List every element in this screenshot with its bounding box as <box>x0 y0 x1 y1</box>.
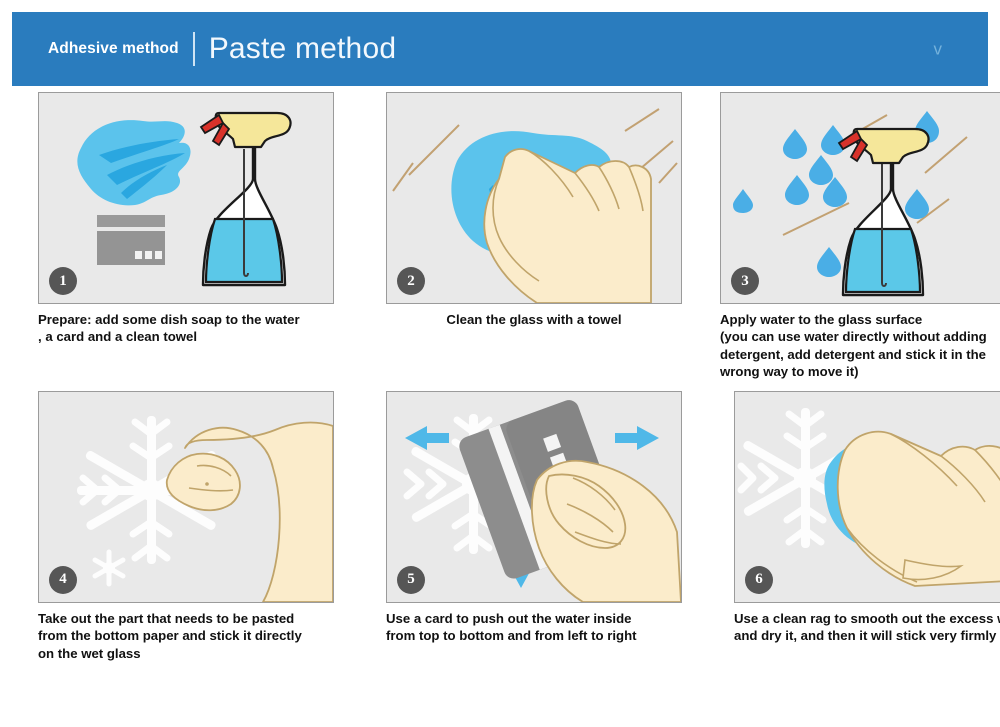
step-2-caption: Clean the glass with a towel <box>386 311 682 328</box>
step-1: 1 Prepare: add some dish soap to the wat… <box>38 92 348 381</box>
step-1-caption: Prepare: add some dish soap to the water… <box>38 311 368 346</box>
spray-bottle-towel-card-icon <box>39 93 333 303</box>
step-2-illustration: 2 <box>386 92 682 304</box>
hand-smoothing-rag-on-sticker-icon <box>735 392 1000 602</box>
step-number-badge: 6 <box>745 566 773 594</box>
chevron-down-icon[interactable]: v <box>934 41 943 58</box>
step-4: 4 Take out the part that needs to be pas… <box>38 391 348 662</box>
header-subtitle: Adhesive method <box>48 40 179 58</box>
step-number-badge: 4 <box>49 566 77 594</box>
step-6-illustration: 6 <box>734 391 1000 603</box>
step-5-illustration: 5 <box>386 391 682 603</box>
step-3: 3 Apply water to the glass surface (you … <box>720 92 1000 381</box>
hand-squeegee-card-arrows-icon <box>387 392 681 602</box>
header-divider <box>193 32 195 66</box>
step-6: 6 Use a clean rag to smooth out the exce… <box>734 391 1000 662</box>
steps-row-top: 1 Prepare: add some dish soap to the wat… <box>0 92 1000 381</box>
step-3-caption: Apply water to the glass surface (you ca… <box>720 311 1000 381</box>
step-5: 5 Use a card to push out the water insid… <box>386 391 696 662</box>
step-4-caption: Take out the part that needs to be paste… <box>38 610 374 662</box>
step-number-badge: 2 <box>397 267 425 295</box>
arrow-left-icon <box>405 426 449 450</box>
arrow-right-icon <box>615 426 659 450</box>
steps-grid: 1 Prepare: add some dish soap to the wat… <box>0 92 1000 662</box>
hand-wiping-towel-on-glass-icon <box>387 93 681 303</box>
step-2: 2 Clean the glass with a towel <box>386 92 682 381</box>
page-title: Paste method <box>209 32 397 66</box>
step-number-badge: 3 <box>731 267 759 295</box>
step-1-illustration: 1 <box>38 92 334 304</box>
step-5-caption: Use a card to push out the water inside … <box>386 610 716 645</box>
step-3-illustration: 3 <box>720 92 1000 304</box>
step-6-caption: Use a clean rag to smooth out the excess… <box>734 610 1000 645</box>
page-header: Adhesive method Paste method v <box>12 12 988 86</box>
step-4-illustration: 4 <box>38 391 334 603</box>
snowflake-small <box>95 552 123 584</box>
steps-row-bottom: 4 Take out the part that needs to be pas… <box>0 391 1000 662</box>
step-number-badge: 5 <box>397 566 425 594</box>
spray-bottle-spraying-water-icon <box>721 93 1000 303</box>
step-number-badge: 1 <box>49 267 77 295</box>
hand-peeling-snowflake-sticker-icon <box>39 392 333 602</box>
